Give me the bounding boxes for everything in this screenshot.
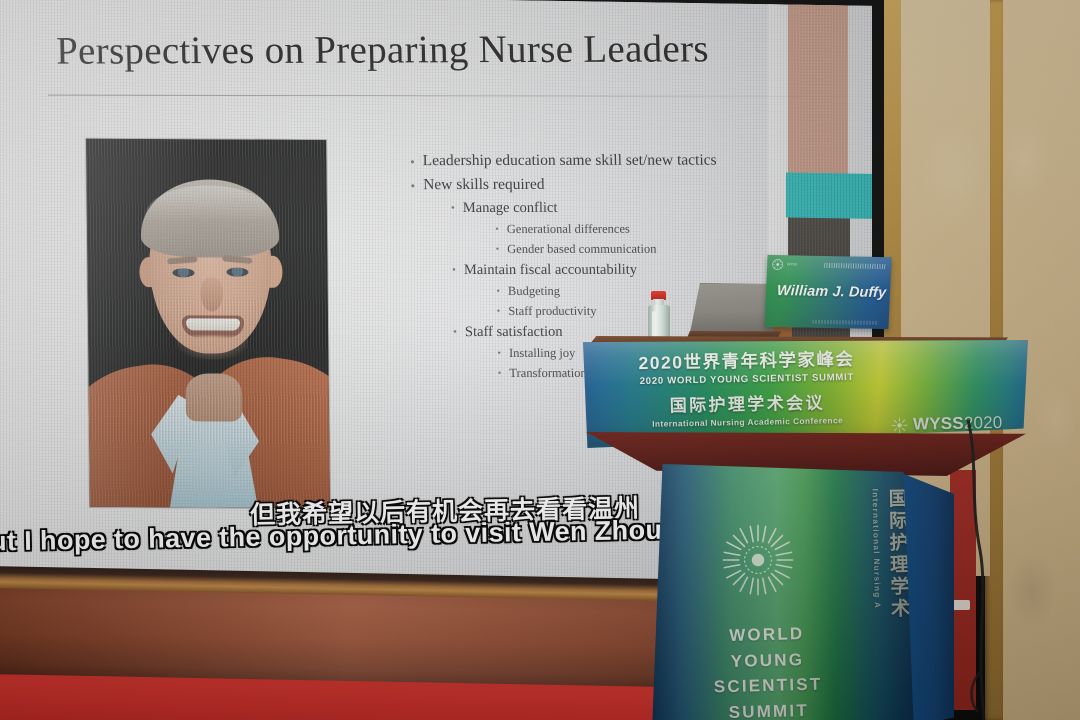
conference-stage-photo: Perspectives on Preparing Nurse Leaders: [0, 0, 1080, 720]
portrait-pixel-grid-overlay: [86, 139, 330, 508]
bullet-dot-icon: •: [452, 262, 456, 276]
list-item-label: Manage conflict: [463, 200, 558, 217]
podium-column-gloss: [652, 464, 914, 720]
hanging-cable: [960, 420, 1030, 720]
speaker-portrait-photo: [86, 139, 330, 508]
bullet-dot-icon: •: [410, 152, 415, 168]
list-item-label: Staff satisfaction: [465, 324, 563, 341]
list-item: • New skills required: [410, 175, 810, 194]
bullet-dot-icon: •: [497, 346, 501, 359]
list-item-label: New skills required: [423, 176, 545, 194]
list-item: • Manage conflict: [411, 199, 811, 217]
list-item: • Maintain fiscal accountability: [412, 261, 812, 279]
cable-path-icon: [960, 420, 1030, 720]
bullet-dot-icon: •: [497, 304, 501, 317]
bullet-dot-icon: •: [410, 176, 415, 192]
bullet-dot-icon: •: [495, 222, 499, 235]
list-item-label: Generational differences: [507, 222, 630, 237]
list-item: • Gender based communication: [412, 241, 812, 257]
bullet-dot-icon: •: [498, 366, 502, 379]
list-item: • Generational differences: [411, 221, 811, 237]
podium-column: WORLD YOUNG SCIENTIST SUMMIT 2020世界青 Int…: [652, 464, 914, 720]
list-item: • Leadership education same skill set/ne…: [410, 151, 810, 170]
bullet-dot-icon: •: [496, 284, 500, 297]
list-item-label: Budgeting: [508, 284, 560, 299]
bullet-dot-icon: •: [496, 242, 500, 255]
list-item-label: Gender based communication: [507, 242, 657, 257]
slide-title: Perspectives on Preparing Nurse Leaders: [56, 26, 847, 74]
list-item-label: Installing joy: [509, 346, 576, 361]
bullet-dot-icon: •: [451, 200, 455, 214]
list-item-label: Maintain fiscal accountability: [464, 262, 637, 279]
bullet-dot-icon: •: [453, 324, 457, 338]
list-item-label: Leadership education same skill set/new …: [423, 152, 717, 171]
